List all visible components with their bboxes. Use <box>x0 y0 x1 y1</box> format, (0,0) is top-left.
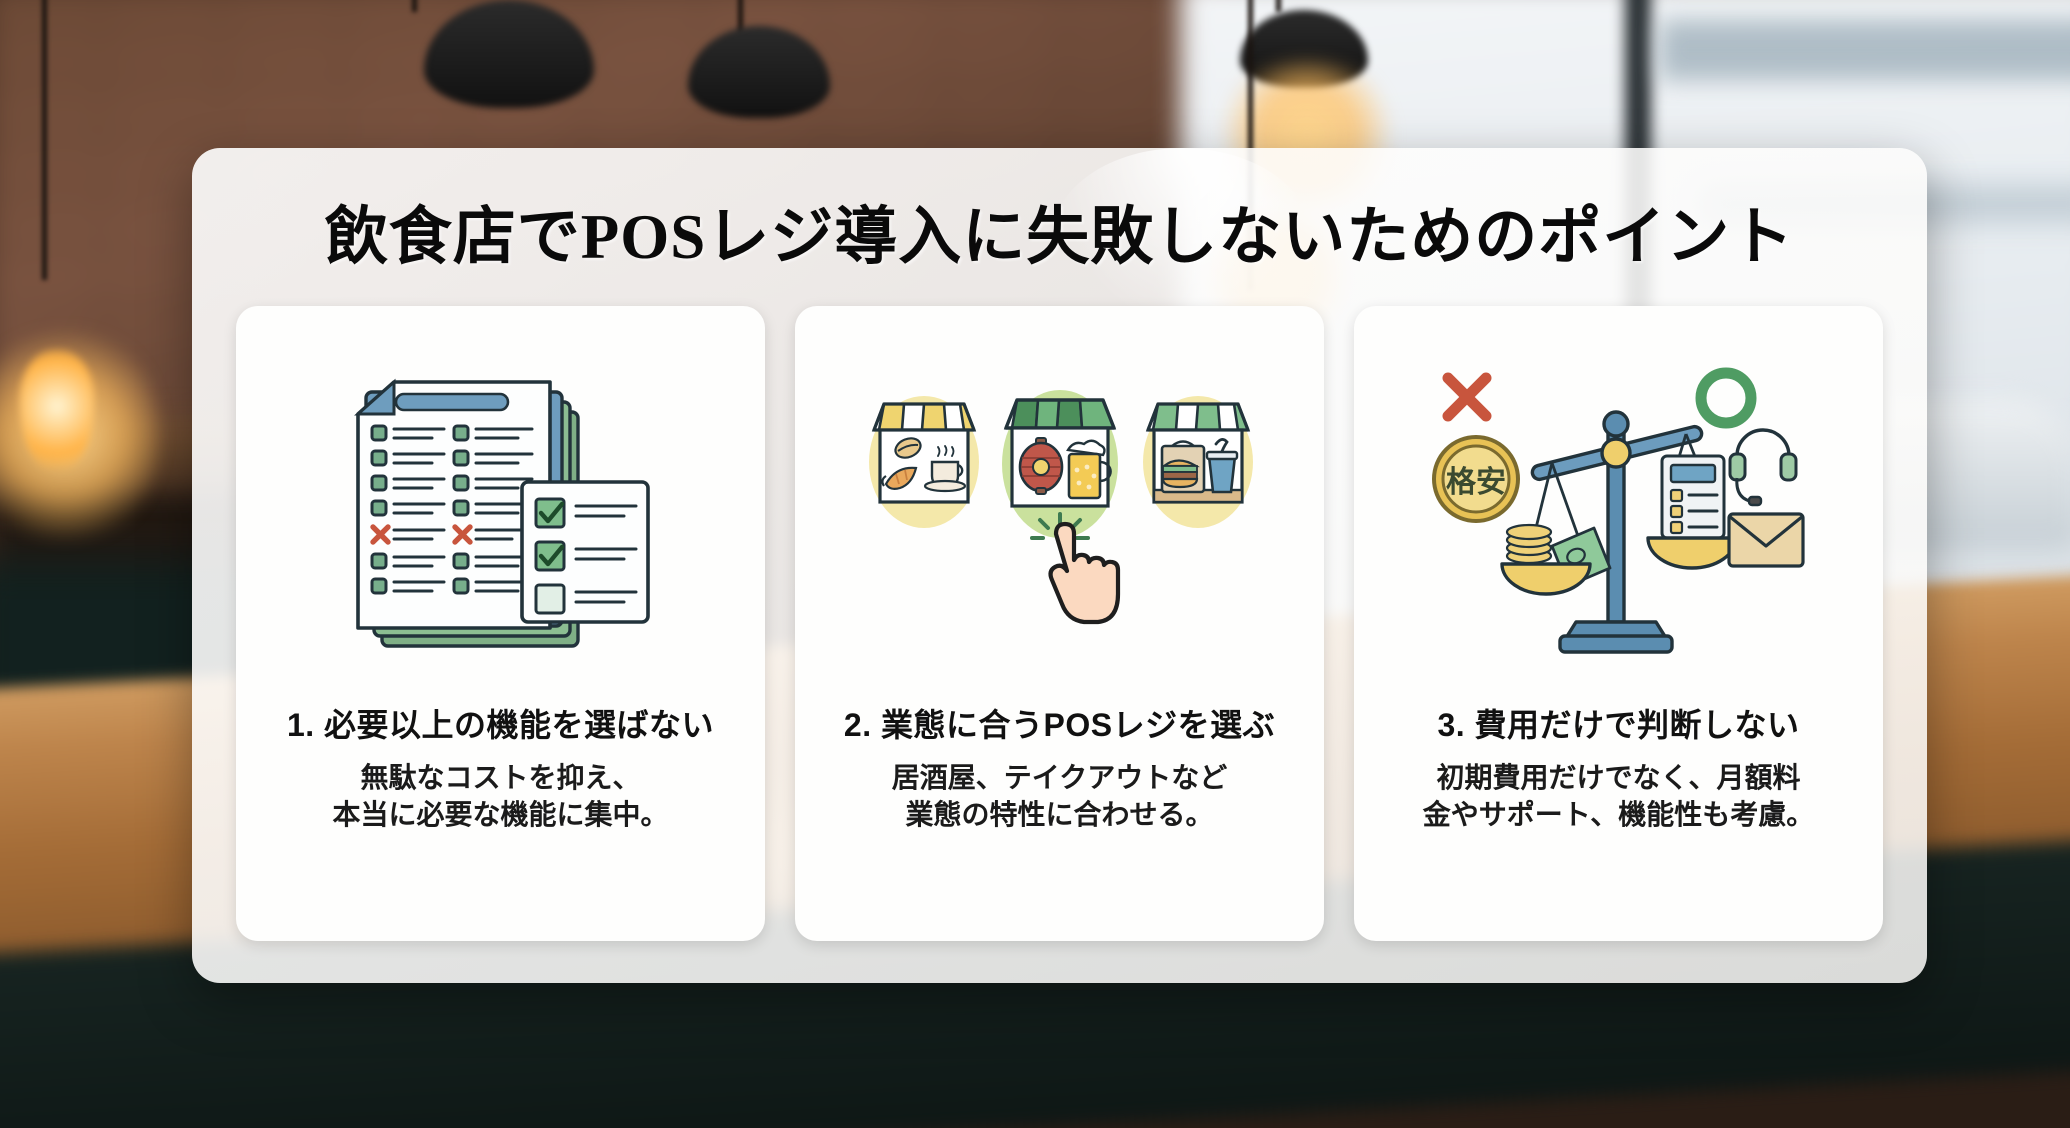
pos-terminal-icon <box>1662 456 1724 538</box>
checkbox-unchecked <box>536 585 564 613</box>
checkbox-checked <box>536 542 564 570</box>
x-mark-icon <box>1448 378 1486 416</box>
storefront-selection-illustration <box>809 332 1310 700</box>
card-point-1[interactable]: 1. 必要以上の機能を選ばない 無駄なコストを抑え、 本当に必要な機能に集中。 <box>236 306 765 941</box>
checkbox-checked <box>536 499 564 527</box>
lamp-cord <box>42 0 47 280</box>
page-title: 飲食店でPOSレジ導入に失敗しないためのポイント <box>192 186 1927 277</box>
balance-scale-icon: 格安 <box>1424 366 1814 666</box>
lamp-cord <box>412 0 417 12</box>
building-exterior <box>1660 20 2070 80</box>
card-body: 無駄なコストを抑え、 本当に必要な機能に集中。 <box>332 760 668 834</box>
documents-checklist-icon <box>336 366 666 666</box>
card-point-2[interactable]: 2. 業態に合うPOSレジを選ぶ 居酒屋、テイクアウトなど 業態の特性に合わせる… <box>795 306 1324 941</box>
card-heading: 1. 必要以上の機能を選ばない <box>287 700 714 746</box>
envelope-icon <box>1729 514 1803 566</box>
balance-scale-illustration: 格安 <box>1368 332 1869 700</box>
storefront-cafe <box>869 396 979 528</box>
card-point-3[interactable]: 格安 <box>1354 306 1883 941</box>
coin-label: 格安 <box>1446 466 1506 499</box>
card-list: 1. 必要以上の機能を選ばない 無駄なコストを抑え、 本当に必要な機能に集中。 <box>236 306 1883 941</box>
storefront-izakaya <box>1002 390 1118 538</box>
lamp-cord <box>1276 0 1281 12</box>
cheap-coin-icon: 格安 <box>1434 437 1518 521</box>
documents-checklist-illustration <box>250 332 751 700</box>
card-heading: 2. 業態に合うPOSレジを選ぶ <box>844 700 1275 746</box>
content-panel: 飲食店でPOSレジ導入に失敗しないためのポイント <box>192 148 1927 983</box>
coin-stack-icon <box>1507 525 1551 563</box>
scale-pan-right <box>1648 434 1736 568</box>
storefronts-icon <box>860 366 1260 666</box>
card-heading: 3. 費用だけで判断しない <box>1437 700 1799 746</box>
burger-bag-icon <box>1162 442 1204 493</box>
storefront-takeout <box>1143 396 1253 528</box>
circle-mark-icon <box>1701 373 1751 423</box>
card-body: 居酒屋、テイクアウトなど 業態の特性に合わせる。 <box>892 760 1227 834</box>
card-body: 初期費用だけでなく、月額料 金やサポート、機能性も考慮。 <box>1423 760 1814 834</box>
headset-icon <box>1730 430 1796 505</box>
